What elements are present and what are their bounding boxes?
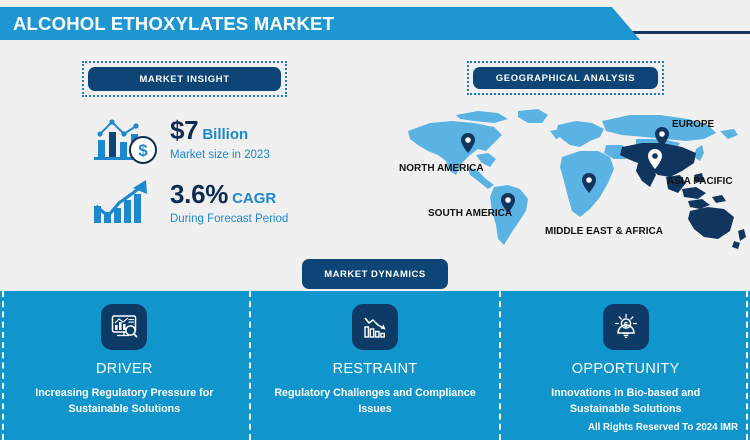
market-insight-heading-box: MARKET INSIGHT xyxy=(82,61,287,97)
panel-driver-title: DRIVER xyxy=(96,361,153,377)
stat-cagr-subtitle: During Forecast Period xyxy=(170,213,288,225)
market-insight-label: MARKET INSIGHT xyxy=(88,67,281,91)
bar-chart-dollar-icon: $ xyxy=(88,112,160,166)
stat-market-size: $ $7Billion Market size in 2023 xyxy=(88,112,270,166)
page-title: ALCOHOL ETHOXYLATES MARKET xyxy=(0,13,334,35)
svg-text:$: $ xyxy=(138,141,148,160)
panel-driver-description: Increasing Regulatory Pressure for Susta… xyxy=(19,385,230,417)
panel-driver: DRIVER Increasing Regulatory Pressure fo… xyxy=(0,291,249,440)
header: ALCOHOL ETHOXYLATES MARKET xyxy=(0,7,750,40)
panel-restraint-title: RESTRAINT xyxy=(333,361,418,377)
svg-text:$: $ xyxy=(624,322,628,329)
stat-cagr-value-line: 3.6%CAGR xyxy=(170,190,276,207)
stat-cagr: 3.6%CAGR During Forecast Period xyxy=(88,176,288,230)
stat-cagr-value: 3.6% xyxy=(170,179,228,209)
monitor-analytics-search-icon xyxy=(101,304,147,350)
panel-opportunity-title: OPPORTUNITY xyxy=(572,361,680,377)
map-label-north-america: NORTH AMERICA xyxy=(399,163,484,174)
stat-market-size-subtitle: Market size in 2023 xyxy=(170,149,270,161)
panel-opportunity: $ OPPORTUNITY Innovations in Bio-based a… xyxy=(501,291,750,440)
panel-edge-dots-left xyxy=(2,291,4,440)
geographical-analysis-label: GEOGRAPHICAL ANALYSIS xyxy=(473,67,658,89)
header-banner: ALCOHOL ETHOXYLATES MARKET xyxy=(0,7,640,40)
panel-opportunity-description: Innovations in Bio-based and Sustainable… xyxy=(520,385,731,417)
stat-cagr-unit: CAGR xyxy=(232,190,276,207)
market-dynamics-panels: DRIVER Increasing Regulatory Pressure fo… xyxy=(0,291,750,440)
lightbulb-dollar-icon: $ xyxy=(603,304,649,350)
map-label-asia-pacific: ASIA PACIFIC xyxy=(667,176,733,187)
stat-cagr-text: 3.6%CAGR During Forecast Period xyxy=(170,181,288,224)
stat-market-size-value-line: $7Billion xyxy=(170,126,248,143)
panel-restraint-description: Regulatory Challenges and Compliance Iss… xyxy=(269,385,480,417)
copyright-text: All Rights Reserved To 2024 IMR xyxy=(588,422,738,433)
growth-arrow-icon xyxy=(88,176,160,230)
stat-market-size-text: $7Billion Market size in 2023 xyxy=(170,117,270,160)
geographical-analysis-heading-box: GEOGRAPHICAL ANALYSIS xyxy=(467,61,664,95)
declining-bar-chart-icon xyxy=(352,304,398,350)
market-dynamics-label: MARKET DYNAMICS xyxy=(302,259,448,289)
map-label-europe: EUROPE xyxy=(672,119,714,130)
map-label-middle-east-africa: MIDDLE EAST & AFRICA xyxy=(545,226,663,237)
stat-market-size-unit: Billion xyxy=(202,126,248,143)
infographic-page: ALCOHOL ETHOXYLATES MARKET MARKET INSIGH… xyxy=(0,0,750,440)
panel-edge-dots-right xyxy=(746,291,748,440)
map-label-south-america: SOUTH AMERICA xyxy=(428,208,512,219)
panel-restraint: RESTRAINT Regulatory Challenges and Comp… xyxy=(251,291,500,440)
stat-market-size-value: $7 xyxy=(170,115,198,145)
